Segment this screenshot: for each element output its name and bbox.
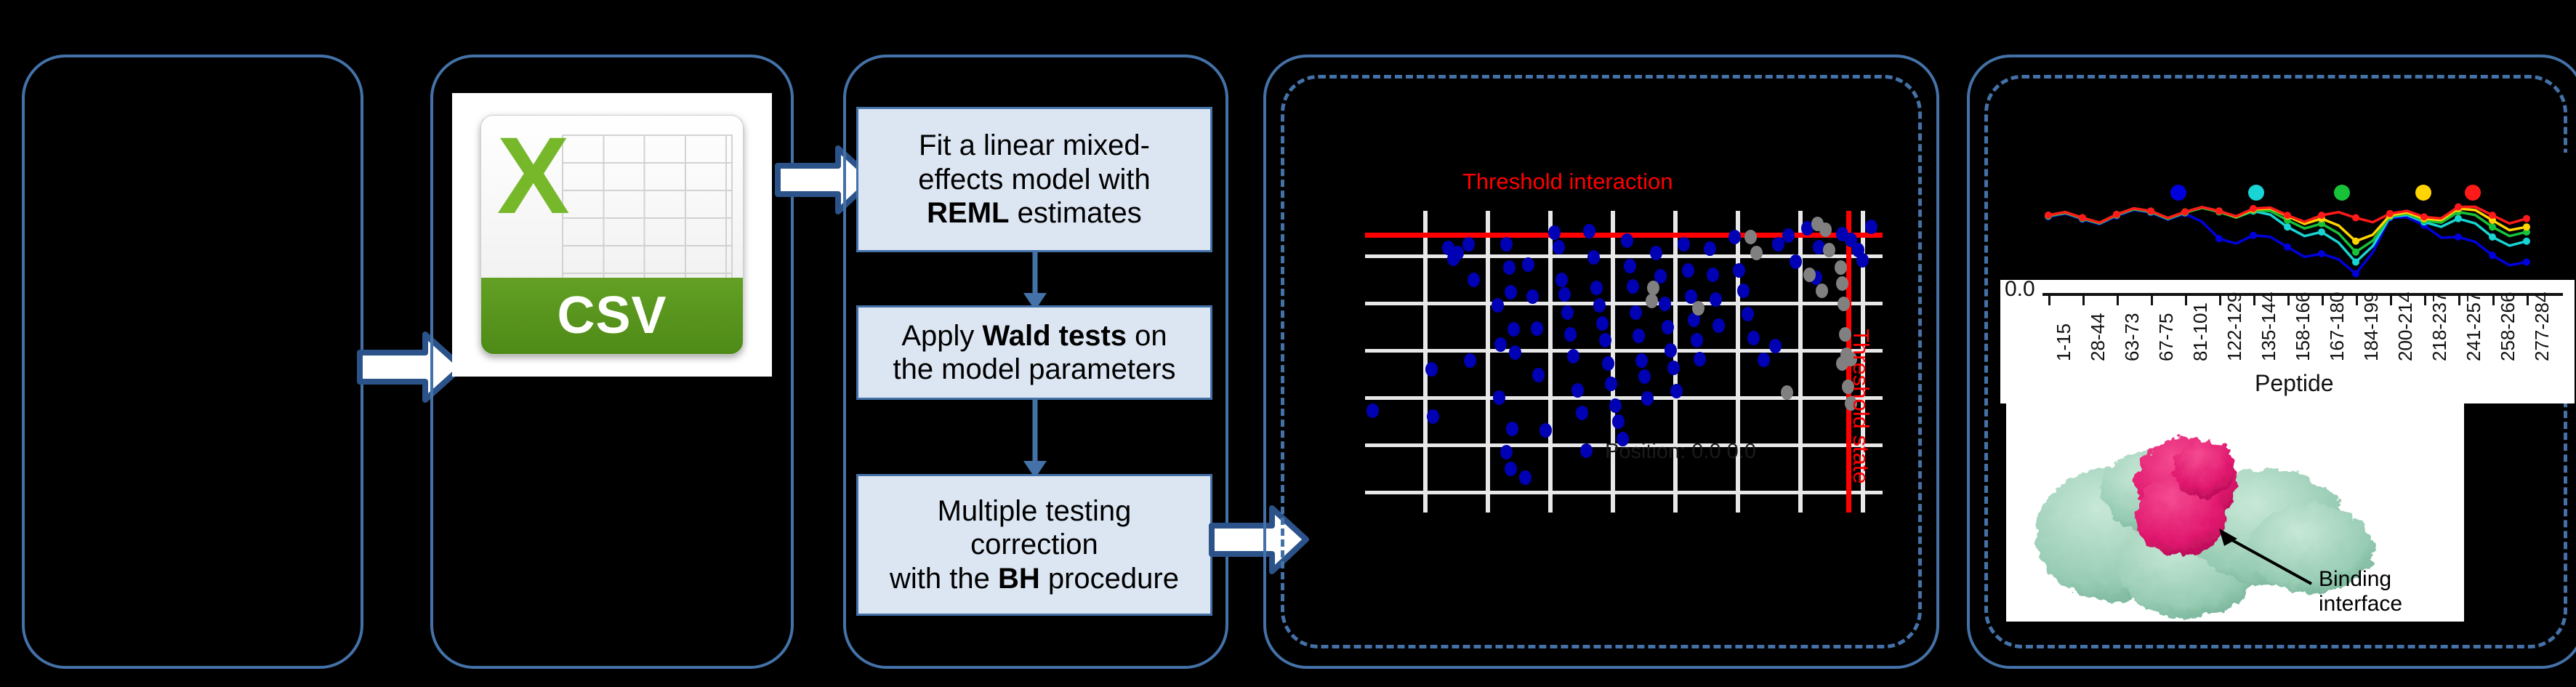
scatter-point — [1492, 298, 1504, 313]
scatter-point — [1670, 384, 1683, 398]
scatter-point — [1782, 228, 1795, 243]
peptide-tick-mark — [2048, 296, 2050, 305]
scatter-point — [1790, 254, 1802, 269]
peptide-tick-mark — [2253, 296, 2255, 305]
scatter-point — [1624, 259, 1636, 273]
peptide-tick-mark — [2424, 296, 2426, 305]
scatter-point — [1638, 369, 1651, 384]
peptide-tick-mark — [2219, 296, 2221, 305]
peptide-tick-mark — [2492, 296, 2495, 305]
scatter-point — [1609, 398, 1622, 413]
scatter-point — [1509, 345, 1521, 360]
process-box-model: Fit a linear mixed- effects model with R… — [856, 107, 1212, 252]
process-box-wald-text: Apply Wald tests on the model parameters — [893, 319, 1175, 387]
peptide-point — [2284, 212, 2291, 219]
peptide-point — [2250, 232, 2257, 239]
scatter-point — [1493, 390, 1505, 405]
legend-dot-red — [2465, 185, 2481, 201]
scatter-point — [1596, 316, 1609, 331]
scatter-point — [1462, 237, 1475, 252]
peptide-point — [2113, 211, 2120, 218]
scatter-point — [1583, 224, 1595, 238]
scatter-plot: Position: 0.0 0.0 — [1365, 211, 1883, 513]
scatter-point — [1633, 329, 1645, 343]
scatter-point-ns — [1836, 276, 1848, 291]
peptide-point — [2420, 213, 2428, 220]
scatter-point — [1539, 423, 1552, 438]
scatter-point — [1712, 318, 1725, 333]
legend-dot-green — [2334, 185, 2350, 201]
scatter-point — [1635, 353, 1648, 368]
scatter-point — [1769, 339, 1782, 353]
scatter-point-ns — [1816, 284, 1828, 298]
scatter-point — [1627, 279, 1639, 294]
peptide-point — [2045, 212, 2052, 219]
peptide-tick-mark — [2356, 296, 2358, 305]
peptide-point — [2489, 233, 2496, 241]
binding-interface-label: Binding interface — [2319, 567, 2402, 616]
scatter-point — [1452, 246, 1464, 260]
scatter-point — [1710, 292, 1722, 307]
peptide-tick-0: 1-15 — [2053, 324, 2075, 361]
peptide-tick-mark — [2390, 296, 2392, 305]
peptide-tick-10: 200-214 — [2394, 292, 2417, 361]
threshold-state-label: Threshold state — [1848, 329, 1874, 484]
excel-x-letter: X — [494, 121, 573, 230]
peptide-point — [2523, 238, 2530, 245]
scatter-point — [1548, 225, 1561, 240]
scatter-point — [1856, 253, 1869, 268]
peptide-point — [2215, 235, 2223, 242]
scatter-point — [1728, 230, 1741, 244]
peptide-tick-8: 167-180 — [2326, 292, 2348, 361]
scatter-point-ns — [1647, 281, 1659, 295]
peptide-point — [2352, 214, 2359, 222]
peptide-point — [2352, 270, 2359, 278]
peptide-point — [2284, 244, 2291, 251]
scatter-point — [1494, 337, 1507, 352]
peptide-point — [2181, 209, 2189, 216]
scatter-point — [1500, 445, 1513, 459]
scatter-point — [1865, 220, 1877, 234]
scatter-point — [1532, 368, 1545, 382]
protein-structure-figure: Binding interface — [2006, 403, 2464, 622]
csv-grid-main — [562, 134, 733, 299]
scatter-point-ns — [1838, 297, 1850, 311]
peptide-point — [2386, 210, 2394, 217]
scatter-point — [1602, 356, 1614, 371]
scatter-point — [1580, 443, 1593, 458]
peptide-tick-14: 277-284 — [2531, 292, 2553, 361]
arrow-model-to-wald — [1021, 252, 1050, 312]
scatter-point — [1564, 327, 1577, 342]
csv-green-band: CSV — [481, 278, 744, 354]
scatter-point-ns — [1819, 222, 1832, 237]
csv-card: X CSV — [480, 115, 744, 355]
scatter-point — [1593, 298, 1606, 313]
peptide-tick-mark — [2527, 296, 2529, 305]
peptide-chart-svg — [2000, 153, 2575, 287]
peptide-point — [2318, 212, 2325, 219]
process-box-wald: Apply Wald tests on the model parameters — [856, 305, 1212, 400]
scatter-point — [1665, 343, 1677, 358]
scatter-point — [1587, 250, 1600, 265]
scatter-point-ns — [1835, 260, 1847, 275]
scatter-point — [1571, 383, 1584, 398]
scatter-point — [1567, 349, 1579, 363]
scatter-point — [1558, 287, 1571, 302]
scatter-point — [1590, 281, 1603, 295]
peptide-tick-9: 184-199 — [2360, 292, 2383, 361]
peptide-point — [2455, 215, 2462, 222]
peptide-tick-11: 218-237 — [2428, 292, 2451, 361]
peptide-tick-13: 258-266 — [2497, 292, 2519, 361]
scatter-point — [1678, 237, 1690, 252]
scatter-point — [1519, 470, 1531, 485]
scatter-point — [1427, 409, 1439, 424]
scatter-point-ns — [1781, 385, 1793, 400]
peptide-axis-title: Peptide — [2255, 370, 2334, 397]
peptide-point — [2079, 214, 2086, 222]
scatter-point — [1704, 241, 1716, 256]
peptide-point — [2523, 215, 2530, 222]
scatter-point — [1758, 353, 1770, 367]
scatter-point — [1650, 246, 1662, 260]
scatter-point — [1468, 273, 1480, 287]
peptide-tick-mark — [2322, 296, 2324, 305]
scatter-point — [1707, 268, 1719, 282]
scatter-point — [1742, 307, 1754, 321]
peptide-point — [2523, 259, 2530, 266]
scatter-point — [1526, 289, 1539, 304]
scatter-point — [1691, 333, 1703, 347]
peptide-tick-mark — [2151, 296, 2153, 305]
scatter-point — [1506, 422, 1518, 436]
panel-input — [22, 55, 363, 669]
scatter-point — [1621, 233, 1633, 248]
peptide-tick-mark — [2117, 296, 2119, 305]
csv-label: CSV — [557, 286, 667, 345]
peptide-point — [2489, 223, 2496, 230]
scatter-point — [1599, 333, 1611, 347]
scatter-point-ns — [1750, 246, 1763, 260]
peptide-point — [2352, 238, 2359, 245]
peptide-tick-1: 28-44 — [2087, 313, 2109, 362]
scatter-point-ns — [1744, 230, 1757, 244]
scatter-point — [1531, 321, 1543, 336]
peptide-point — [2215, 207, 2223, 214]
scatter-point — [1605, 377, 1617, 391]
peptide-tick-4: 81-101 — [2189, 302, 2212, 361]
scatter-point — [1555, 273, 1568, 287]
scatter-point — [1694, 352, 1706, 366]
scatter-point — [1500, 237, 1513, 252]
peptide-point — [2284, 223, 2291, 230]
peptide-point — [2489, 252, 2496, 259]
scatter-point — [1612, 414, 1625, 429]
peptide-point — [2489, 212, 2496, 219]
scatter-point — [1425, 362, 1438, 377]
scatter-point — [1508, 322, 1520, 337]
process-box-bh: Multiple testing correction with the BH … — [856, 474, 1212, 616]
peptide-point — [2352, 259, 2359, 266]
scatter-point — [1505, 285, 1517, 300]
peptide-tick-7: 158-166 — [2292, 292, 2314, 361]
peptide-y-tick-label: 0.0 — [2005, 277, 2035, 302]
scatter-point-ns — [1646, 294, 1658, 308]
legend-dot-cyan — [2248, 185, 2264, 201]
scatter-point — [1464, 353, 1476, 368]
peptide-point — [2455, 233, 2462, 241]
scatter-point — [1505, 462, 1517, 476]
peptide-tick-12: 241-257 — [2463, 292, 2485, 361]
scatter-point — [1503, 260, 1516, 275]
peptide-tick-mark — [2185, 296, 2187, 305]
scatter-point — [1682, 263, 1694, 278]
scatter-point — [1641, 391, 1654, 406]
scatter-point-ns — [1803, 268, 1816, 282]
scatter-point — [1733, 263, 1745, 278]
scatter-point — [1659, 297, 1671, 311]
peptide-point — [2318, 250, 2325, 257]
scatter-gridlines — [1365, 211, 1883, 513]
peptide-point — [2455, 204, 2462, 211]
peptide-tick-mark — [2082, 296, 2085, 305]
scatter-point-ns — [1823, 243, 1835, 257]
threshold-interaction-label: Threshold interaction — [1462, 169, 1673, 195]
scatter-point — [1747, 331, 1760, 345]
peptide-tick-mark — [2287, 296, 2290, 305]
peptide-tick-mark — [2458, 296, 2460, 305]
process-box-model-text: Fit a linear mixed- effects model with R… — [918, 129, 1150, 230]
scatter-point — [1667, 361, 1680, 375]
peptide-tick-6: 135-144 — [2258, 292, 2280, 361]
scatter-point — [1367, 403, 1379, 418]
peptide-line-chart — [2000, 153, 2575, 287]
peptide-point — [2352, 249, 2359, 256]
scatter-point — [1522, 257, 1534, 272]
peptide-point — [2250, 205, 2257, 212]
scatter-point — [1576, 406, 1588, 420]
peptide-axis-area: 0.0 1-1528-4463-7367-7581-101122-129135-… — [2000, 280, 2575, 403]
peptide-point — [2147, 207, 2154, 214]
legend-dot-yellow — [2415, 185, 2431, 201]
peptide-tick-2: 63-73 — [2121, 313, 2144, 362]
scatter-point — [1662, 320, 1674, 334]
scatter-point — [1553, 240, 1565, 254]
peptide-point — [2318, 228, 2325, 236]
scatter-point — [1561, 305, 1574, 320]
peptide-tick-3: 67-75 — [2155, 313, 2178, 362]
csv-file-icon: X CSV — [452, 93, 772, 377]
scatter-point — [1630, 305, 1642, 320]
scatter-point-ns — [1692, 301, 1704, 316]
peptide-point — [2523, 223, 2530, 230]
process-box-bh-text: Multiple testing correction with the BH … — [890, 494, 1179, 595]
legend-dot-blue — [2170, 185, 2186, 201]
scatter-point — [1617, 432, 1629, 446]
arrow-wald-to-bh — [1021, 400, 1050, 480]
peptide-tick-5: 122-129 — [2223, 292, 2246, 361]
scatter-point — [1737, 284, 1750, 298]
